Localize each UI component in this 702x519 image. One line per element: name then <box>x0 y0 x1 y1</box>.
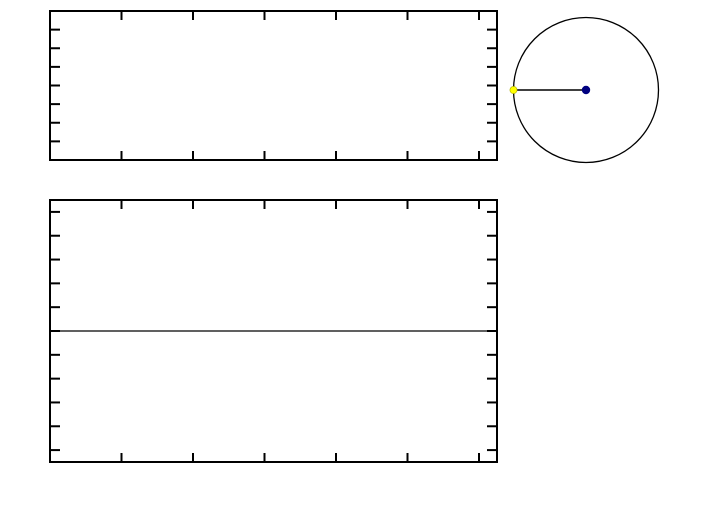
dispersion-x-ticks <box>50 11 479 160</box>
figure-canvas <box>0 0 702 519</box>
dispersion-y-ticks <box>50 11 497 141</box>
dispersion-plot-frame <box>50 11 497 160</box>
azimuth-diagram <box>510 18 659 163</box>
dispersion-y-axis <box>50 11 497 141</box>
dispersion-x-axis <box>50 11 479 160</box>
reference-station-dot <box>582 86 590 94</box>
dispersion-panel <box>50 11 497 160</box>
spectrum-panel <box>50 200 497 462</box>
plot-figure <box>0 0 702 519</box>
paired-station-dot <box>510 86 517 93</box>
